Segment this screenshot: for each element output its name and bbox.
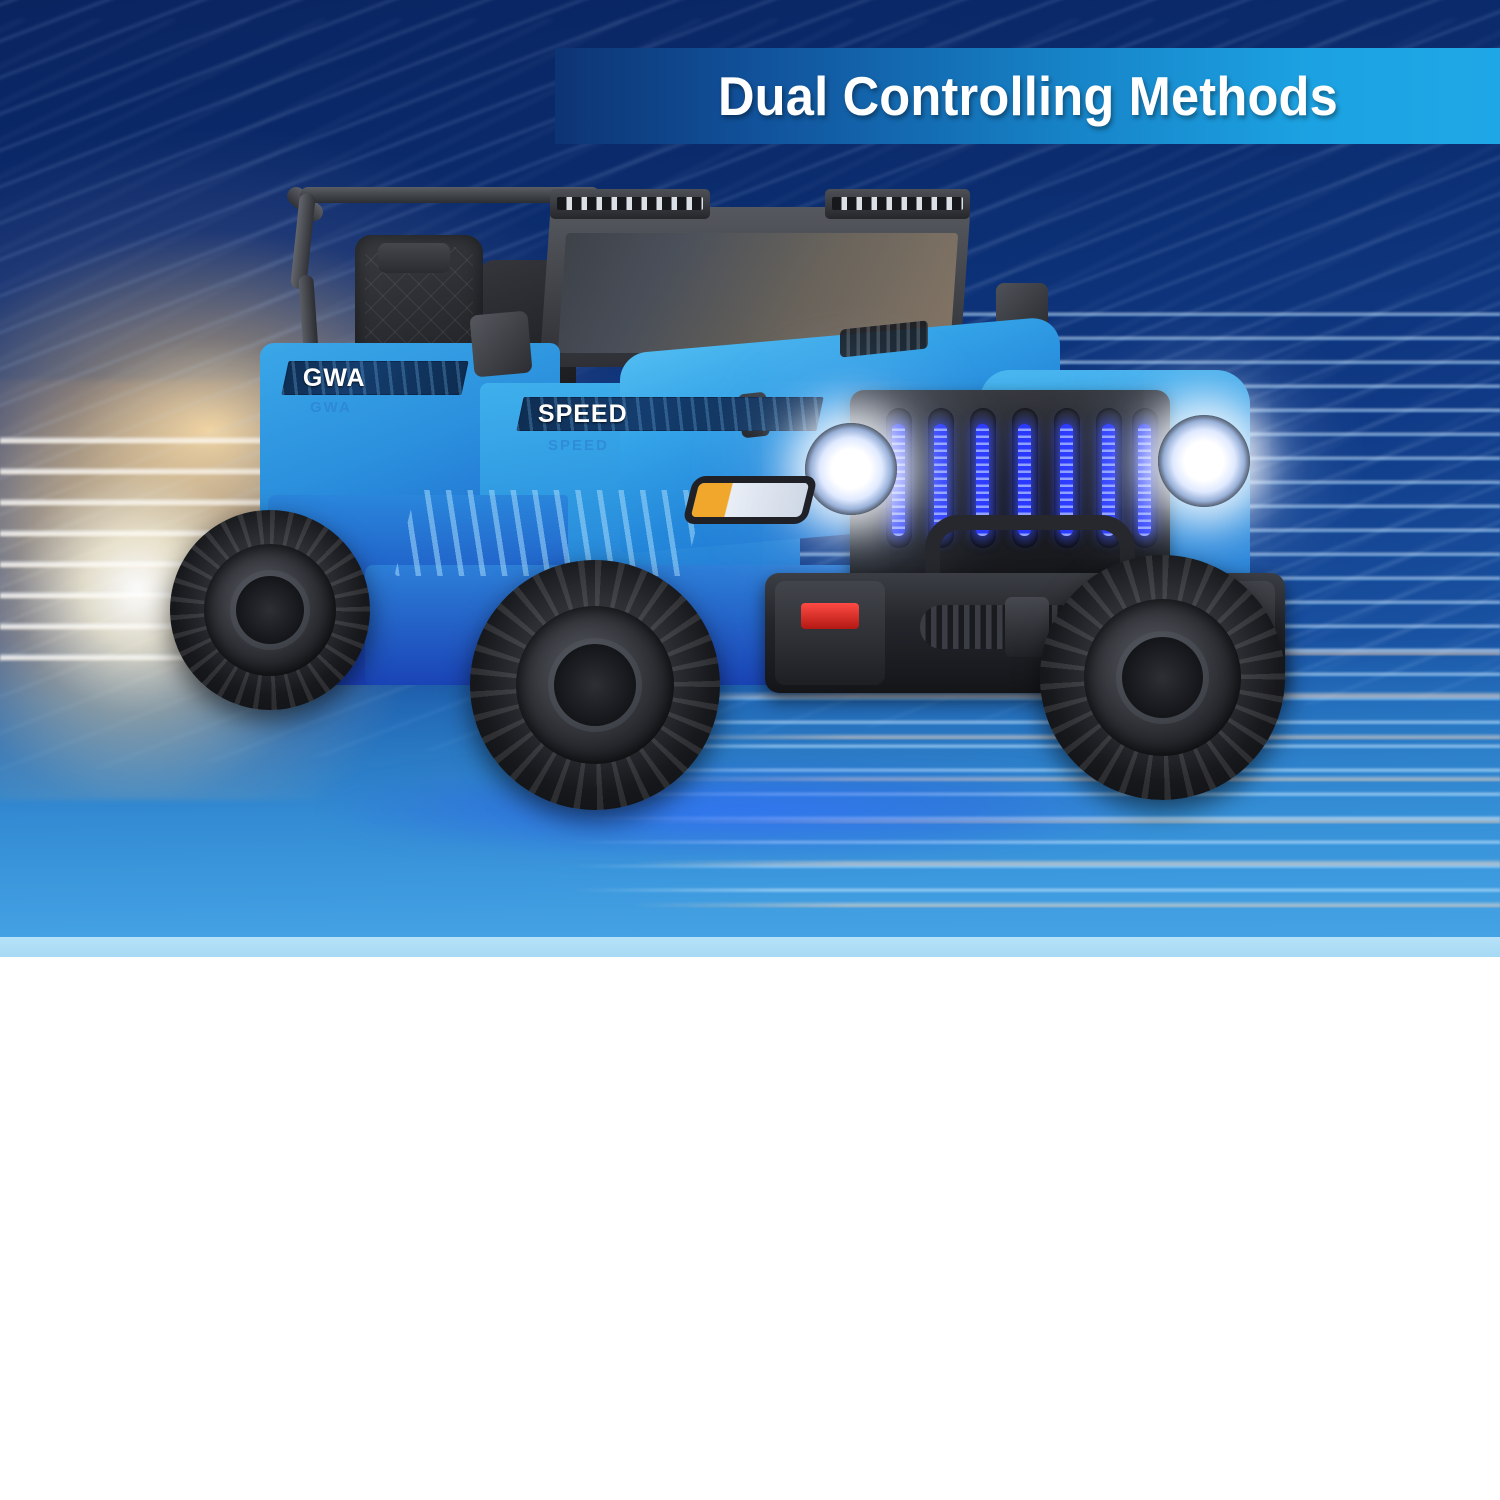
ride-on-jeep-illustration: GWA GWA SPEED SPEED — [150, 165, 1330, 925]
decal-gwa-sub: GWA — [310, 399, 352, 416]
bumper-pad-left — [775, 581, 885, 685]
decal-gwa-text: GWA — [303, 364, 366, 393]
title-banner: Dual Controlling Methods — [555, 48, 1500, 144]
rim — [1084, 599, 1241, 756]
roof-light-bar-right — [825, 189, 970, 219]
roof-light-bar-left — [550, 189, 710, 219]
page-title: Dual Controlling Methods — [718, 64, 1338, 128]
reflector-left — [801, 603, 859, 629]
grille-led-slot — [1132, 408, 1158, 548]
led-strip — [832, 197, 963, 210]
rim — [204, 544, 336, 676]
wheel-rear — [170, 510, 370, 710]
decal-gwa: GWA — [281, 361, 468, 395]
decal-speed-sub: SPEED — [548, 437, 609, 454]
controlling-methods-panel: Kids Manual Drive Parental Remote Contro… — [0, 957, 1500, 1500]
rim — [516, 606, 674, 764]
headlight-right — [1158, 415, 1250, 507]
camo-graphic — [394, 490, 705, 576]
headlight-left — [805, 423, 897, 515]
side-mirror-left — [469, 311, 532, 378]
turn-signal-light — [691, 483, 809, 517]
hero-product-photo: GWA GWA SPEED SPEED — [0, 0, 1500, 937]
decal-speed-text: SPEED — [538, 400, 628, 429]
section-divider — [0, 937, 1500, 957]
decal-speed: SPEED — [516, 397, 823, 431]
led-strip — [557, 197, 703, 210]
product-feature-image: GWA GWA SPEED SPEED — [0, 0, 1500, 1500]
underglow-light — [330, 765, 1150, 855]
headrest — [378, 243, 450, 273]
wheel-front — [1040, 555, 1285, 800]
wheel-mid — [470, 560, 720, 810]
